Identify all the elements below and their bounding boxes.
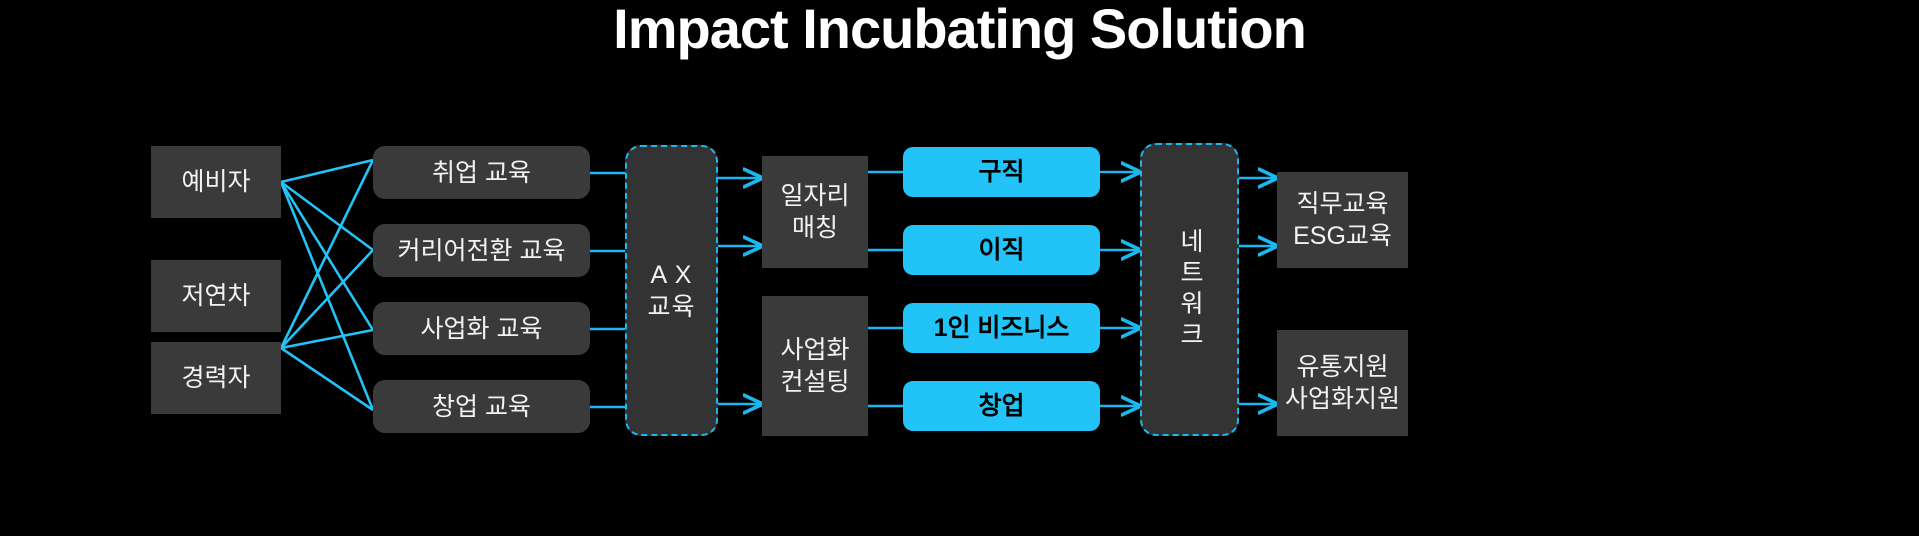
node-program-startup[interactable]: 창업 교육	[373, 380, 590, 433]
node-network-label: 네트워크	[1177, 228, 1202, 352]
node-network[interactable]: 네트워크	[1140, 143, 1239, 436]
node-program-commercialization[interactable]: 사업화 교육	[373, 302, 590, 355]
node-outcome-job-change[interactable]: 이직	[903, 225, 1100, 275]
node-ax-education[interactable]: A X 교육	[625, 145, 718, 436]
node-program-employment[interactable]: 취업 교육	[373, 146, 590, 199]
node-service-business-consulting[interactable]: 사업화 컨설팅	[762, 296, 868, 436]
node-outcome-job-seeking[interactable]: 구직	[903, 147, 1100, 197]
node-outcome-startup[interactable]: 창업	[903, 381, 1100, 431]
node-target-junior[interactable]: 저연차	[151, 260, 281, 332]
node-support-job-esg-education[interactable]: 직무교육 ESG교육	[1277, 172, 1408, 268]
node-outcome-solo-business[interactable]: 1인 비즈니스	[903, 303, 1100, 353]
node-service-job-matching[interactable]: 일자리 매칭	[762, 156, 868, 268]
flow-diagram: 예비자 저연차 경력자 취업 교육 커리어전환 교육 사업화 교육 창업 교육 …	[0, 0, 1919, 536]
node-support-distribution-commercialization[interactable]: 유통지원 사업화지원	[1277, 330, 1408, 436]
node-target-preliminary[interactable]: 예비자	[151, 146, 281, 218]
node-target-experienced[interactable]: 경력자	[151, 342, 281, 414]
node-program-career-change[interactable]: 커리어전환 교육	[373, 224, 590, 277]
